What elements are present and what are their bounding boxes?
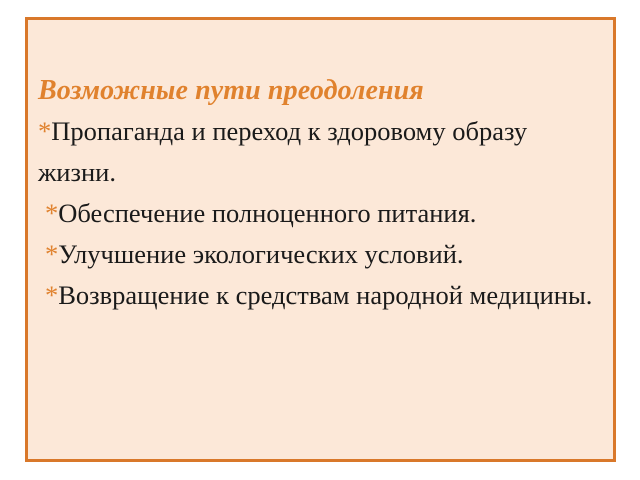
- slide-heading: Возможные пути преодоления: [38, 70, 609, 111]
- asterisk-bullet-icon: *: [45, 239, 58, 269]
- bullet-item: *Обеспечение полноценного питания.: [38, 193, 609, 234]
- bullet-list: *Пропаганда и переход к здоровому образу…: [38, 111, 609, 316]
- text-block: Возможные пути преодоления *Пропаганда и…: [38, 70, 609, 316]
- asterisk-bullet-icon: *: [38, 116, 51, 146]
- bullet-item: *Пропаганда и переход к здоровому образу…: [38, 111, 609, 193]
- bullet-item-label: Улучшение экологических условий.: [58, 239, 463, 269]
- bullet-item-label: Обеспечение полноценного питания.: [58, 198, 476, 228]
- asterisk-bullet-icon: *: [45, 280, 58, 310]
- bullet-item: *Улучшение экологических условий.: [38, 234, 609, 275]
- slide-root: Возможные пути преодоления *Пропаганда и…: [0, 0, 640, 480]
- bullet-item-label: Пропаганда и переход к здоровому образу …: [38, 116, 527, 187]
- bullet-item-label: Возвращение к средствам народной медицин…: [58, 280, 592, 310]
- bullet-item: *Возвращение к средствам народной медици…: [38, 275, 609, 316]
- content-panel: Возможные пути преодоления *Пропаганда и…: [25, 17, 616, 462]
- asterisk-bullet-icon: *: [45, 198, 58, 228]
